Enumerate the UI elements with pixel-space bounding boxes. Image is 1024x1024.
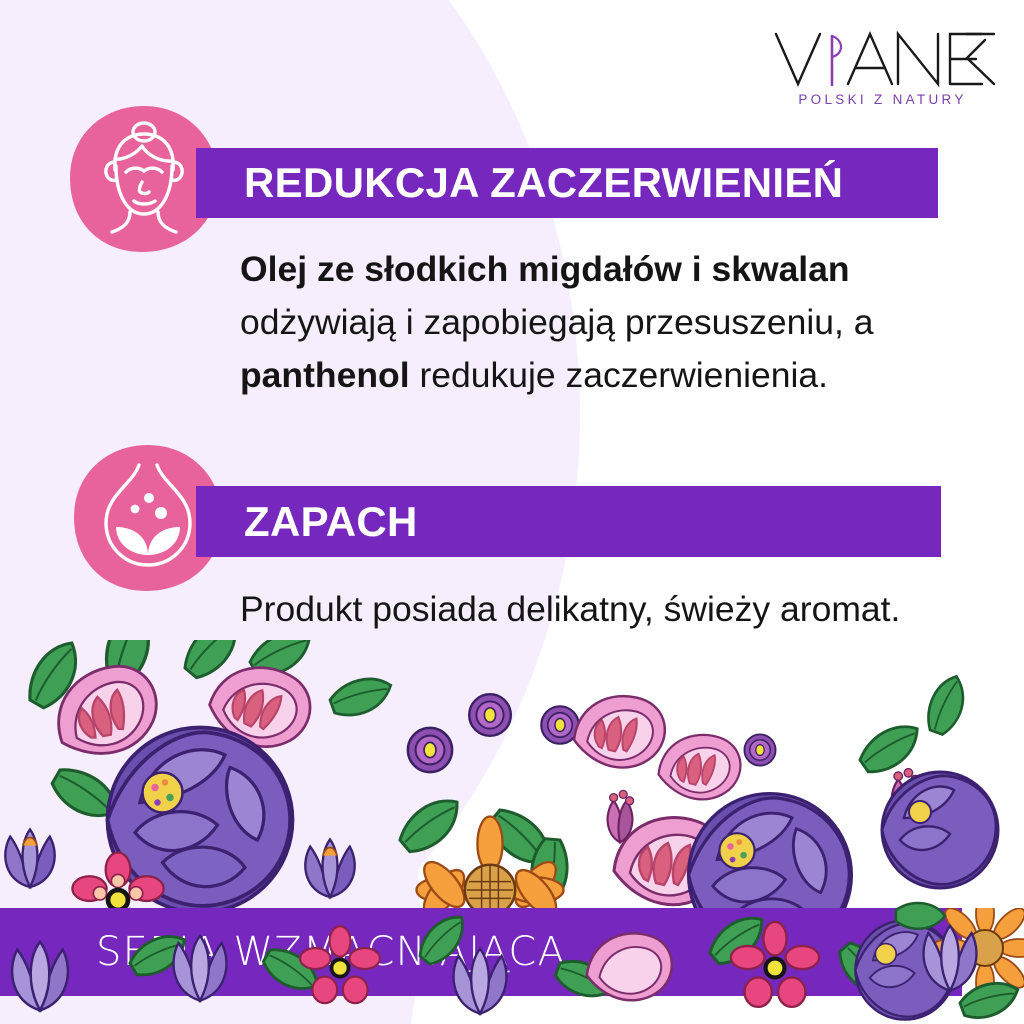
feature-title-redness: REDUKCJA ZACZERWIENIEŃ [244, 159, 843, 207]
feature-body-fragrance: Produkt posiada delikatny, świeży aromat… [240, 583, 960, 636]
floral-decoration-right-edge [880, 760, 1024, 1024]
logo-wordmark [770, 28, 995, 90]
feature-banner-redness: REDUKCJA ZACZERWIENIEŃ [196, 148, 938, 218]
floral-decoration-top [0, 640, 1024, 910]
brand-logo: POLSKI Z NATURY [770, 28, 995, 128]
body1-part-0: Olej ze słodkich migdałów i skwalan [240, 249, 850, 289]
body2-part-0: Produkt posiada delikatny, świeży aromat… [240, 589, 900, 629]
poster-canvas: POLSKI Z NATURY REDUKCJA ZACZERWIENIEŃ [0, 0, 1024, 1024]
body1-part-2: panthenol [240, 355, 419, 395]
vianek-logo-icon [770, 28, 995, 90]
body1-part-1: odżywiają i zapobiegają przesuszeniu, a [240, 302, 873, 342]
feature-title-fragrance: ZAPACH [244, 498, 418, 546]
floral-decoration-bottom [0, 908, 1024, 1024]
feature-banner-fragrance: ZAPACH [196, 486, 941, 557]
feature-body-redness: Olej ze słodkich migdałów i skwalan odży… [240, 243, 960, 402]
logo-tagline: POLSKI Z NATURY [770, 92, 995, 107]
body1-part-3: redukuje zaczerwienienia. [419, 355, 827, 395]
